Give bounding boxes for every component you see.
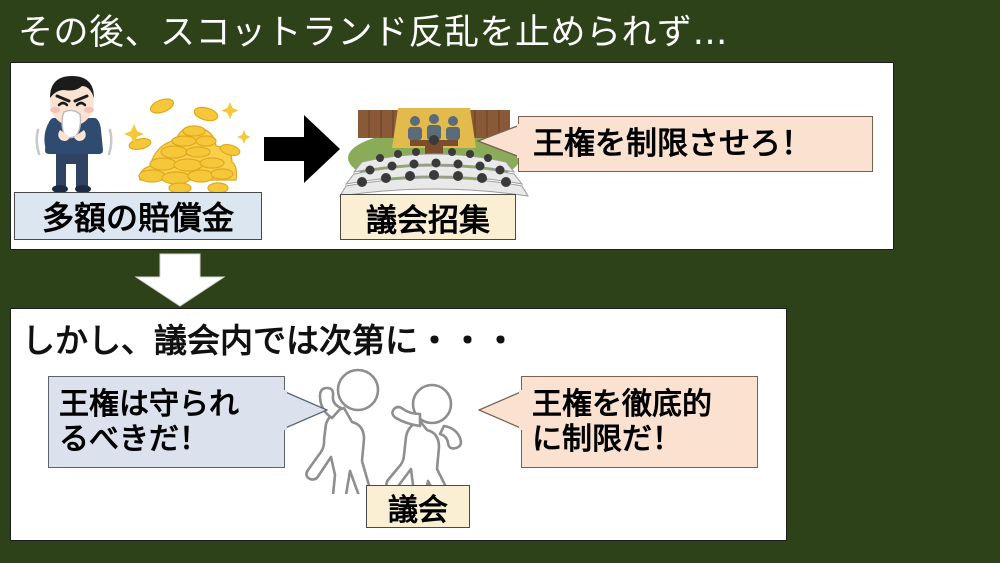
speech-bubble-tail-right-icon [282, 389, 328, 431]
speech-bubble-limit-royal-power: 王権を制限させろ！ [518, 116, 873, 172]
crying-man-illustration [26, 72, 122, 194]
speech-bubble-text: 王権を徹底的 に制限だ！ [522, 387, 722, 458]
speech-bubble-restrict-royal-power: 王権を徹底的 に制限だ！ [521, 376, 758, 468]
bottom-panel-heading: しかし、議会内では次第に・・・ [22, 316, 742, 366]
speech-bubble-tail-left-icon [477, 123, 521, 159]
down-arrow-icon [134, 253, 226, 307]
speech-bubble-protect-royal-power: 王権は守られ るべきだ！ [48, 376, 285, 468]
speech-bubble-text: 王権は守られ るべきだ！ [49, 387, 249, 458]
speech-bubble-text: 王権を制限させろ！ [519, 126, 822, 163]
slide-canvas: その後、スコットランド反乱を止められず… [0, 0, 1000, 563]
page-title: その後、スコットランド反乱を止められず… [18, 10, 968, 56]
label-reparations: 多額の賠償金 [14, 192, 262, 240]
speech-bubble-tail-left-icon [478, 389, 524, 431]
label-parliament: 議会 [366, 485, 470, 528]
label-summon-parliament: 議会招集 [340, 194, 516, 240]
gold-coins-illustration [118, 84, 250, 194]
right-arrow-icon [262, 113, 342, 185]
